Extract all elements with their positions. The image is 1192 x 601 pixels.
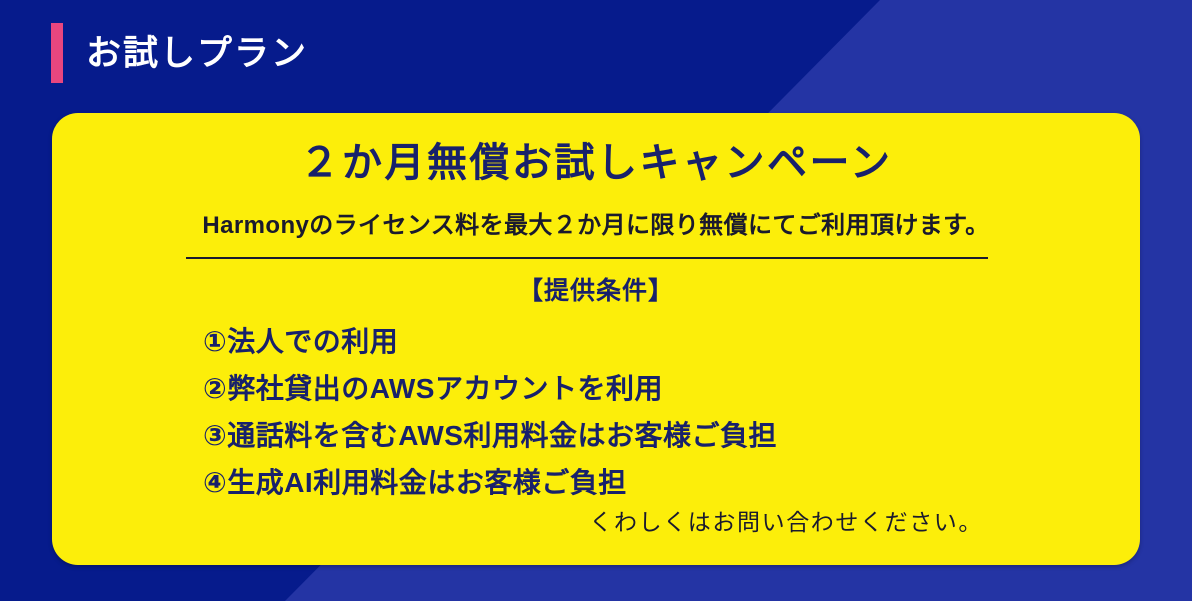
trial-plan-card: ２か月無償お試しキャンペーン Harmonyのライセンス料を最大２か月に限り無償… [52,113,1140,565]
campaign-subtitle: Harmonyのライセンス料を最大２か月に限り無償にてご利用頂けます。 [52,212,1140,241]
page-title: お試しプラン [86,36,308,71]
list-item: ④生成AI利用料金はお客様ご負担 [203,459,777,506]
contact-footnote: くわしくはお問い合わせください。 [589,509,983,537]
list-item: ①法人での利用 [203,318,777,365]
campaign-title: ２か月無償お試しキャンペーン [52,140,1140,186]
section-divider [186,257,988,259]
conditions-list: ①法人での利用 ②弊社貸出のAWSアカウントを利用 ③通話料を含むAWS利用料金… [203,318,777,506]
list-item: ②弊社貸出のAWSアカウントを利用 [203,365,777,412]
slide-canvas: お試しプラン ２か月無償お試しキャンペーン Harmonyのライセンス料を最大２… [0,0,1192,601]
slide-header: お試しプラン [51,23,308,83]
list-item: ③通話料を含むAWS利用料金はお客様ご負担 [203,412,777,459]
conditions-heading: 【提供条件】 [52,276,1140,306]
header-accent-bar [51,23,63,83]
